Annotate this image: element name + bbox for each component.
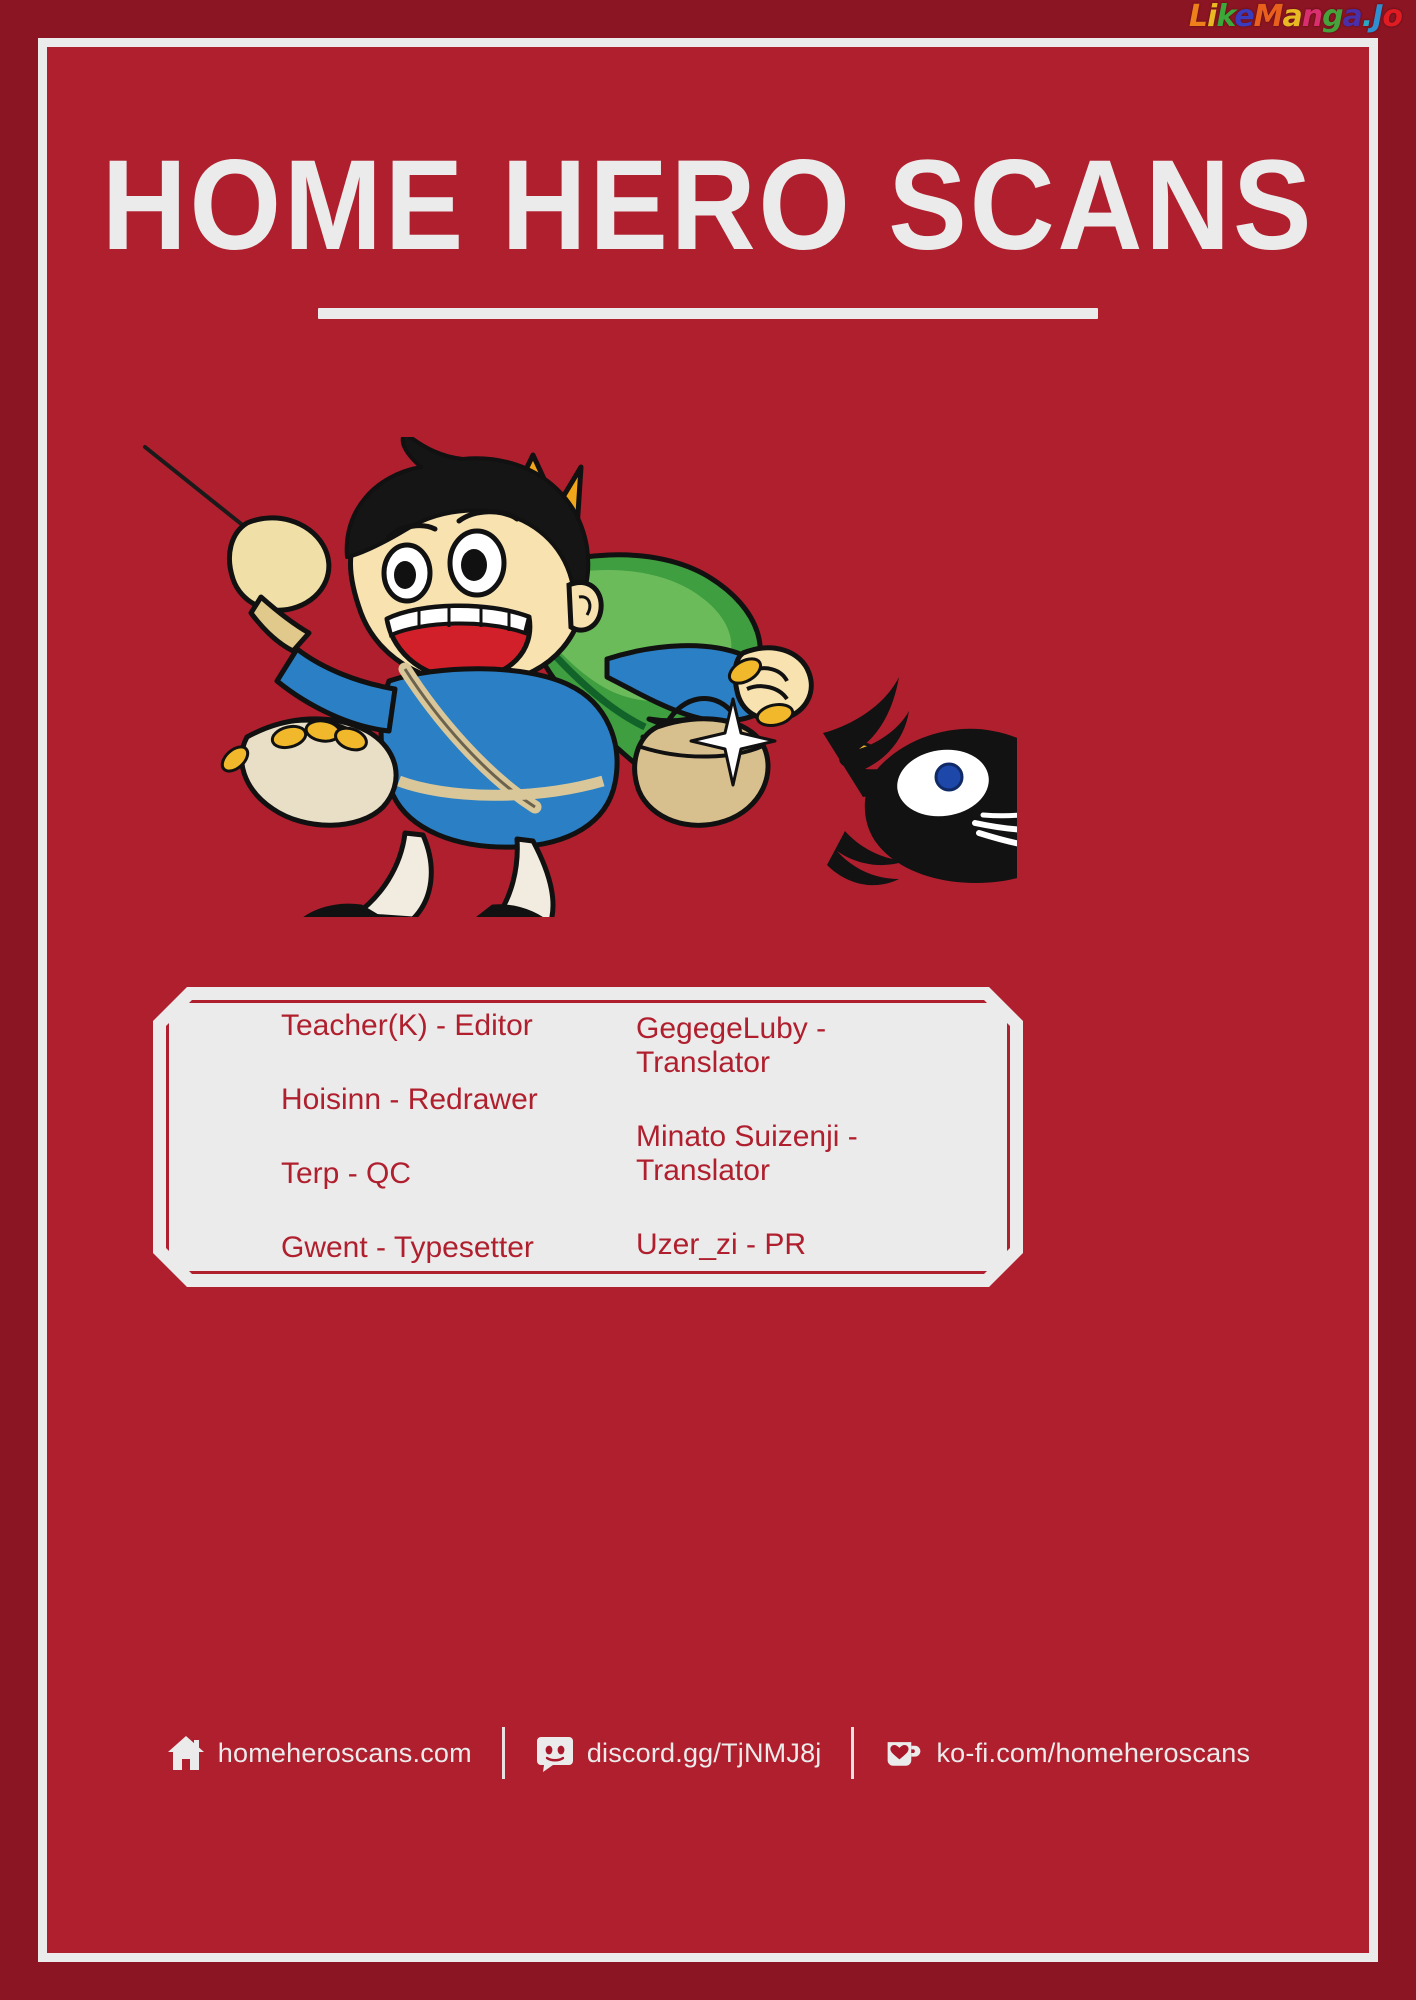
credits-grid: Teacher(K) - Editor Hoisinn - Redrawer T… [153, 987, 1023, 1287]
black-monster-icon [823, 677, 1017, 885]
credits-right-column: GegegeLuby - Translator Minato Suizenji … [636, 1009, 1023, 1265]
website-link-label: homeheroscans.com [218, 1738, 472, 1769]
credit-entry: GegegeLuby - Translator [636, 1012, 1023, 1080]
discord-link-label: discord.gg/TjNMJ8j [587, 1738, 822, 1769]
kofi-link[interactable]: ko-fi.com/homeheroscans [854, 1733, 1280, 1773]
sword-icon [145, 447, 329, 651]
hero-legs [290, 833, 559, 917]
house-icon [166, 1733, 206, 1773]
credit-entry: Teacher(K) - Editor [281, 1009, 626, 1043]
credit-entry: Gwent - Typesetter [281, 1231, 626, 1265]
credit-entry: Minato Suizenji - Translator [636, 1120, 1023, 1188]
footer-links: homeheroscans.com discord.gg/TjNMJ8j [47, 1727, 1369, 1779]
hero-head [347, 437, 602, 684]
credits-left-column: Teacher(K) - Editor Hoisinn - Redrawer T… [281, 1009, 626, 1265]
page-background: HOME HERO SCANS [0, 0, 1416, 2000]
footer-divider [502, 1727, 505, 1779]
title-block: HOME HERO SCANS [47, 142, 1369, 319]
credits-box: Teacher(K) - Editor Hoisinn - Redrawer T… [153, 987, 1023, 1287]
page-title: HOME HERO SCANS [100, 142, 1316, 270]
coin-pouch-icon [218, 719, 396, 826]
kofi-icon [884, 1733, 924, 1773]
kofi-link-label: ko-fi.com/homeheroscans [936, 1738, 1250, 1769]
credit-entry: Hoisinn - Redrawer [281, 1083, 626, 1117]
poster-canvas: HOME HERO SCANS [47, 47, 1369, 1953]
discord-icon [535, 1733, 575, 1773]
title-underline-rule [318, 308, 1098, 319]
hero-and-monster-illustration [137, 437, 1017, 917]
credit-entry: Uzer_zi - PR [636, 1228, 1023, 1262]
discord-link[interactable]: discord.gg/TjNMJ8j [505, 1733, 852, 1773]
white-border-frame: HOME HERO SCANS [38, 38, 1378, 1962]
website-link[interactable]: homeheroscans.com [136, 1733, 502, 1773]
footer-divider [851, 1727, 854, 1779]
credit-entry: Terp - QC [281, 1157, 626, 1191]
likemanga-watermark: LikeManga.Jo [1189, 2, 1402, 32]
